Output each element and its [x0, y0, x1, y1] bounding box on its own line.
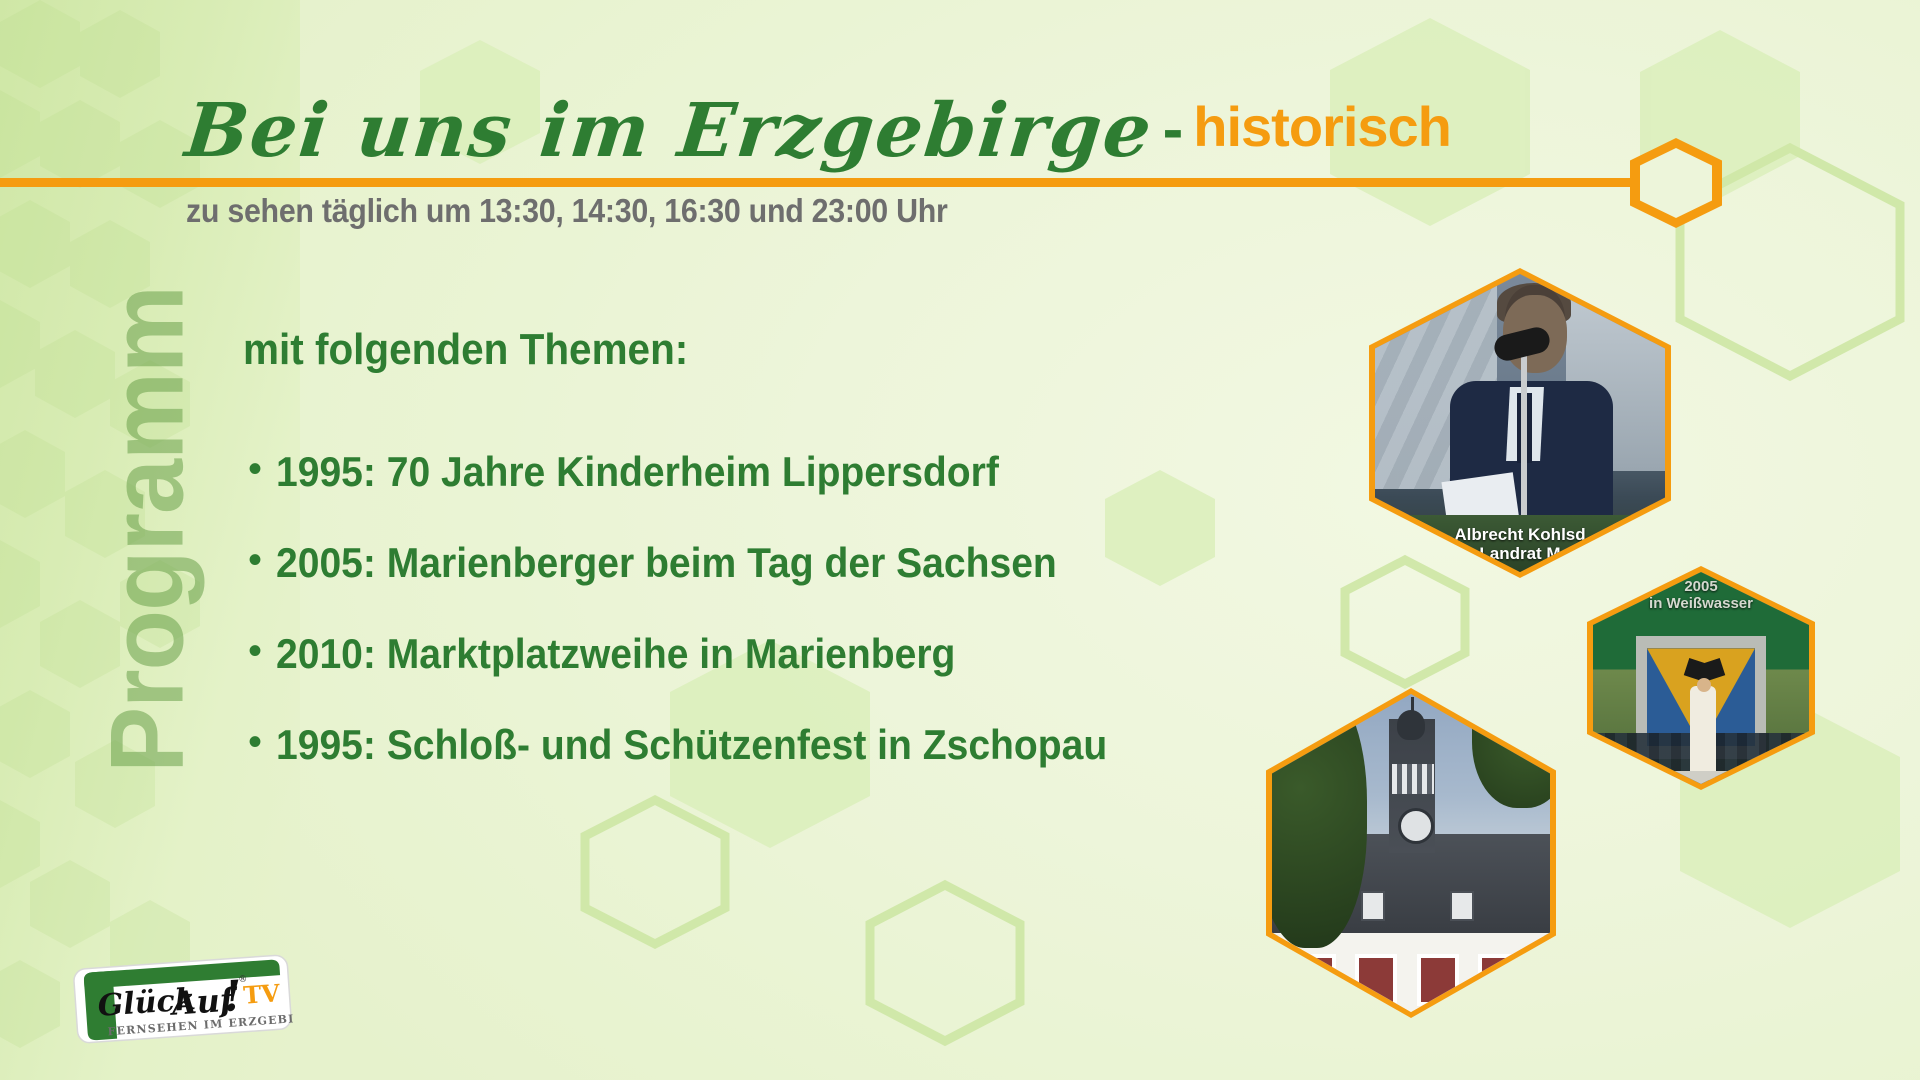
topics-lead-in: mit folgenden Themen: [243, 325, 688, 375]
photo-hexagon-speaker: Albrecht Kohlsd Landrat M [1369, 268, 1671, 578]
page-title: Bei uns im Erzgebirge-historisch [186, 88, 1451, 174]
photo-hexagon-town-hall [1266, 688, 1556, 1018]
photo-hexagon-stage: 2005 in Weißwasser [1587, 566, 1815, 790]
bullet-icon: • [248, 540, 262, 580]
list-item-label: 1995: 70 Jahre Kinderheim Lippersdorf [276, 448, 999, 496]
list-item: • 1995: Schloß- und Schützenfest in Zsch… [248, 721, 1170, 769]
broadcast-times: zu sehen täglich um 13:30, 14:30, 16:30 … [186, 192, 948, 230]
slide-canvas: Bei uns im Erzgebirge-historisch zu sehe… [0, 0, 1920, 1080]
photo-caption-line2: in Weißwasser [1593, 595, 1809, 612]
bullet-icon: • [248, 631, 262, 671]
list-item-label: 2005: Marienberger beim Tag der Sachsen [276, 539, 1057, 587]
title-rule [0, 178, 1662, 187]
page-title-main: Bei uns im Erzgebirge [181, 88, 1157, 174]
list-item: • 2005: Marienberger beim Tag der Sachse… [248, 539, 1170, 587]
photo-caption-line1: 2005 [1593, 578, 1809, 595]
list-item-label: 1995: Schloß- und Schützenfest in Zschop… [276, 721, 1107, 769]
list-item: • 1995: 70 Jahre Kinderheim Lippersdorf [248, 448, 1170, 496]
bullet-icon: • [248, 722, 262, 762]
topics-list: • 1995: 70 Jahre Kinderheim Lippersdorf … [248, 448, 1170, 812]
section-label-programm: Programm [89, 226, 208, 834]
page-title-accent: historisch [1193, 94, 1451, 159]
list-item-label: 2010: Marktplatzweihe in Marienberg [276, 630, 955, 678]
page-title-dash: - [1153, 94, 1194, 165]
bullet-icon: • [248, 449, 262, 489]
logo-glueckauf-tv[interactable]: Glück Auf ! ® TV FERNSEHEN IM ERZGEBIRGE [72, 952, 294, 1060]
photo-caption-line2: Landrat M [1375, 544, 1665, 564]
logo-tv: TV [242, 978, 281, 1010]
list-item: • 2010: Marktplatzweihe in Marienberg [248, 630, 1170, 678]
photo-caption-line1: Albrecht Kohlsd [1375, 525, 1665, 545]
